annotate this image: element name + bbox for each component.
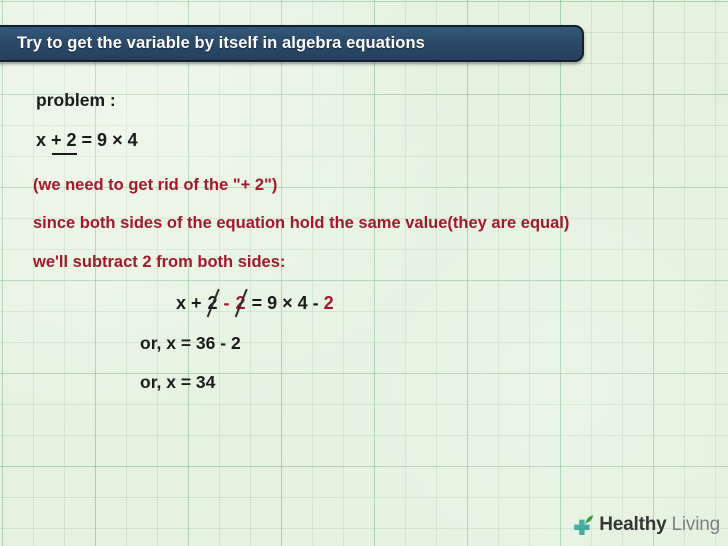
note-subtract-two: we'll subtract 2 from both sides: bbox=[33, 254, 285, 271]
note-get-rid-of: (we need to get rid of the "+ 2") bbox=[33, 177, 277, 194]
medical-cross-leaf-icon bbox=[570, 513, 596, 537]
title-banner: Try to get the variable by itself in alg… bbox=[0, 25, 584, 62]
brand-text: Healthy Living bbox=[599, 514, 720, 536]
equation-worked-cancelled-two-right: 2 bbox=[235, 294, 247, 312]
equation-worked-part-1: x + bbox=[176, 293, 207, 313]
equation-worked-part-3: = 9 × 4 - bbox=[247, 293, 324, 313]
equation-original-prefix: x bbox=[36, 130, 51, 150]
equation-answer: or, x = 34 bbox=[140, 374, 215, 392]
equation-worked: x + 2 - 2 = 9 × 4 - 2 bbox=[176, 294, 334, 312]
brand-name-light: Living bbox=[666, 514, 720, 535]
equation-worked-part-4: 2 bbox=[324, 293, 334, 313]
equation-step-three: or, x = 36 - 2 bbox=[140, 335, 241, 353]
problem-label: problem : bbox=[36, 92, 116, 110]
equation-original: x + 2 = 9 × 4 bbox=[36, 131, 138, 149]
paper-texture bbox=[0, 0, 728, 546]
equation-original-suffix: = 9 × 4 bbox=[77, 130, 138, 150]
brand-name-bold: Healthy bbox=[599, 514, 666, 535]
watermark-logo: Healthy Living bbox=[570, 513, 720, 537]
equation-worked-part-2: - bbox=[219, 293, 235, 313]
equation-original-underlined-term: + 2 bbox=[51, 131, 77, 149]
page-title: Try to get the variable by itself in alg… bbox=[0, 34, 425, 53]
equation-worked-cancelled-two-left: 2 bbox=[207, 294, 219, 312]
note-both-sides-equal: since both sides of the equation hold th… bbox=[33, 215, 569, 232]
slide-canvas: Try to get the variable by itself in alg… bbox=[0, 0, 728, 546]
